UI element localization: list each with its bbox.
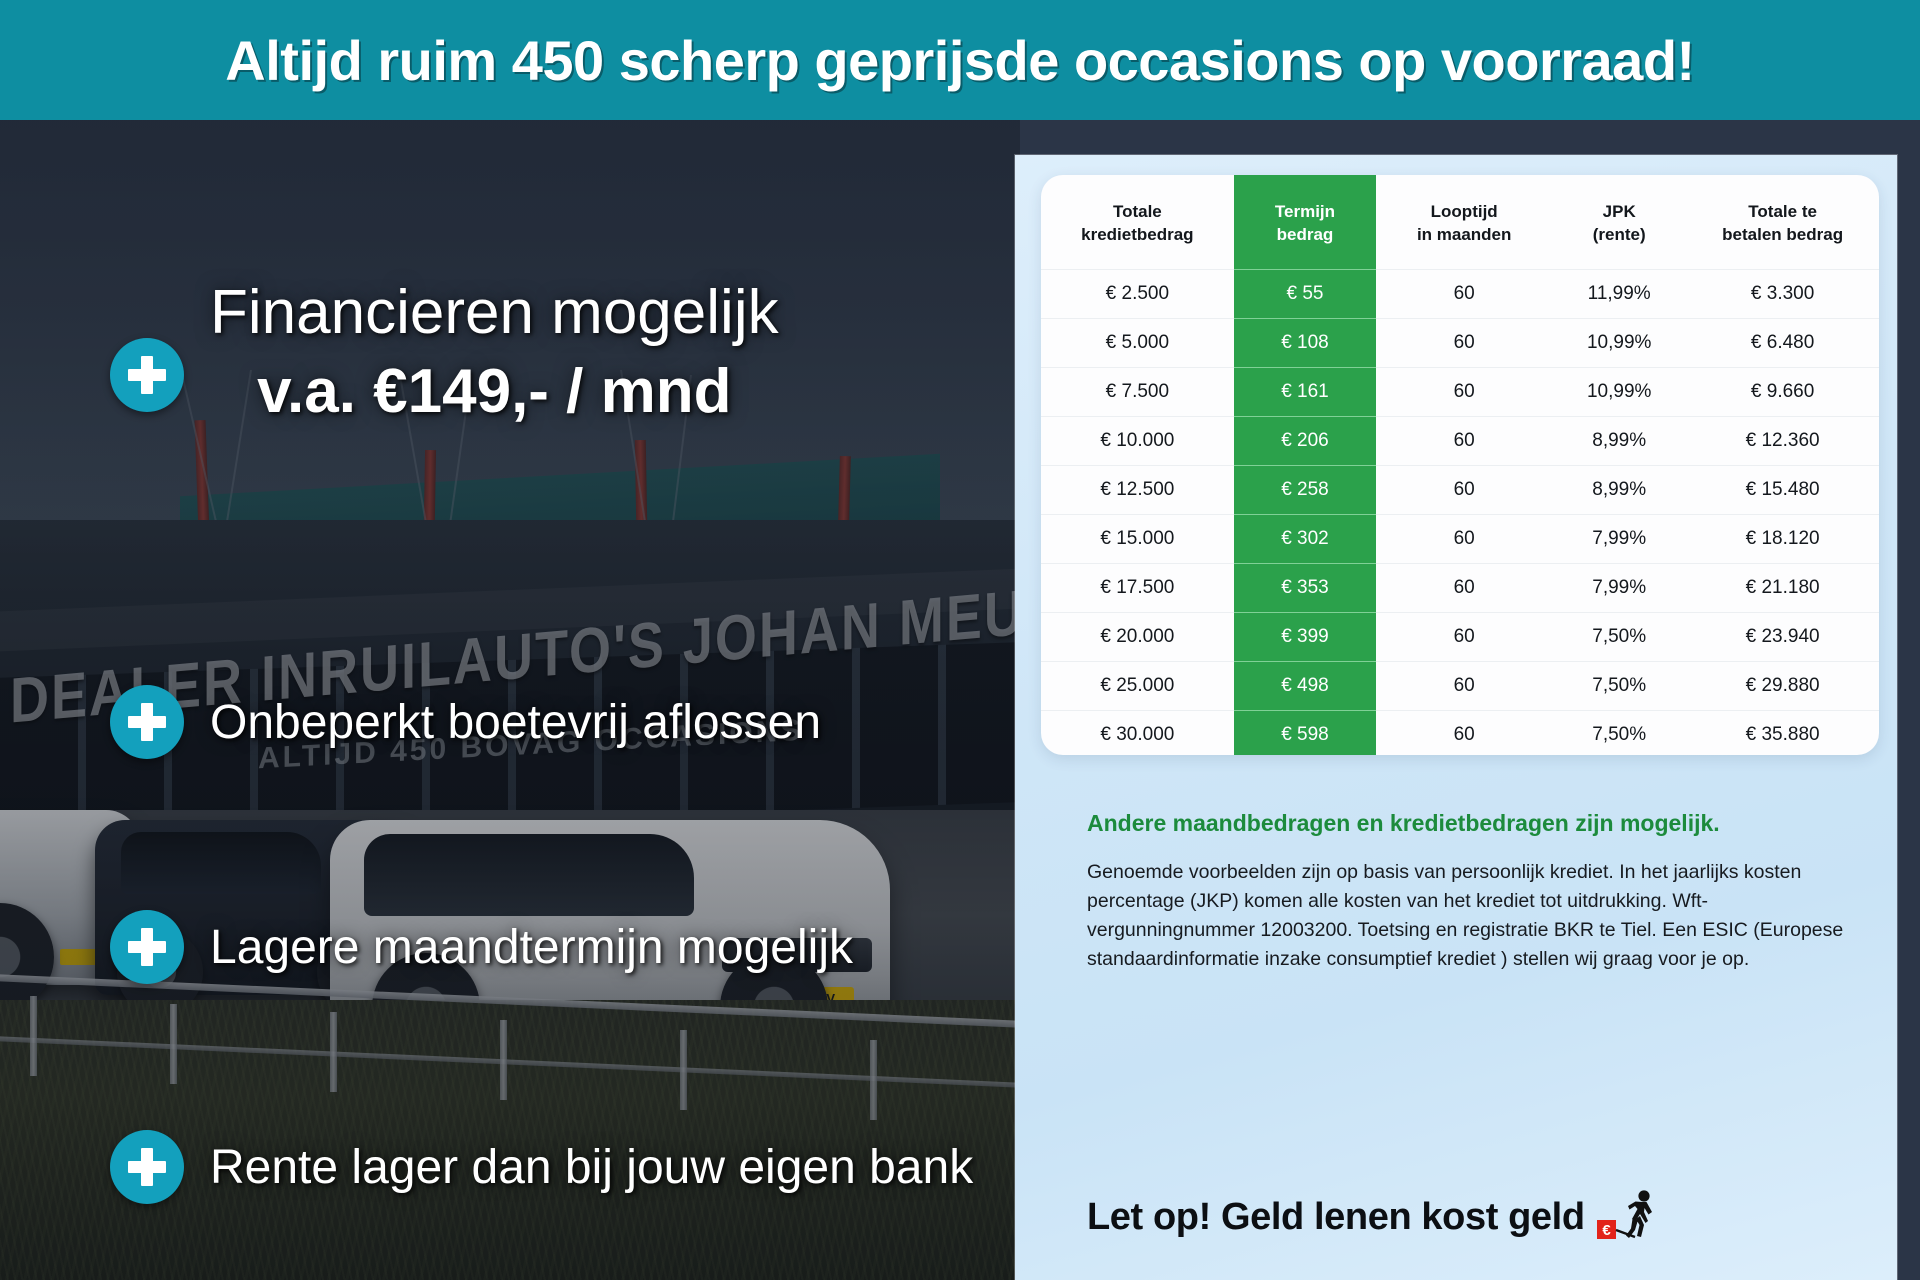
table-cell: € 21.180 (1686, 563, 1879, 612)
table-cell: € 30.000 (1041, 710, 1234, 755)
benefit-item-aflossen: Onbeperkt boetevrij aflossen (110, 685, 821, 759)
note-heading: Andere maandbedragen en kredietbedragen … (1087, 810, 1847, 838)
th-line-2: (rente) (1593, 225, 1646, 244)
financing-table-card: Totale kredietbedrag Termijn bedrag Loop… (1041, 175, 1879, 755)
panel-note: Andere maandbedragen en kredietbedragen … (1087, 810, 1847, 975)
th-line-1: JPK (1603, 202, 1636, 221)
table-row: € 12.500€ 258608,99%€ 15.480 (1041, 465, 1879, 514)
cell-termijn-bedrag: € 399 (1234, 612, 1376, 661)
th-totale-te-betalen: Totale te betalen bedrag (1686, 175, 1879, 269)
table-cell: 10,99% (1552, 367, 1686, 416)
table-cell: 60 (1376, 416, 1552, 465)
table-header-row: Totale kredietbedrag Termijn bedrag Loop… (1041, 175, 1879, 269)
warning-text: Let op! Geld lenen kost geld (1087, 1196, 1585, 1239)
table-cell: 7,50% (1552, 612, 1686, 661)
th-line-2: in maanden (1417, 225, 1511, 244)
top-banner: Altijd ruim 450 scherp geprijsde occasio… (0, 0, 1920, 120)
cell-termijn-bedrag: € 302 (1234, 514, 1376, 563)
th-looptijd: Looptijd in maanden (1376, 175, 1552, 269)
table-cell: € 12.500 (1041, 465, 1234, 514)
banner-headline: Altijd ruim 450 scherp geprijsde occasio… (225, 28, 1694, 93)
table-cell: € 20.000 (1041, 612, 1234, 661)
table-cell: 7,50% (1552, 710, 1686, 755)
cell-termijn-bedrag: € 108 (1234, 318, 1376, 367)
table-cell: 8,99% (1552, 465, 1686, 514)
note-body: Genoemde voorbeelden zijn op basis van p… (1087, 858, 1847, 975)
table-cell: 60 (1376, 710, 1552, 755)
cell-termijn-bedrag: € 598 (1234, 710, 1376, 755)
svg-text:€: € (1602, 1222, 1611, 1239)
benefit-label: Rente lager dan bij jouw eigen bank (210, 1140, 973, 1195)
th-line-1: Totale (1113, 202, 1162, 221)
table-cell: 60 (1376, 465, 1552, 514)
financing-table: Totale kredietbedrag Termijn bedrag Loop… (1041, 175, 1879, 755)
table-row: € 20.000€ 399607,50%€ 23.940 (1041, 612, 1879, 661)
table-row: € 25.000€ 498607,50%€ 29.880 (1041, 661, 1879, 710)
table-cell: € 3.300 (1686, 269, 1879, 318)
table-cell: € 5.000 (1041, 318, 1234, 367)
cell-termijn-bedrag: € 353 (1234, 563, 1376, 612)
financing-info-panel: Totale kredietbedrag Termijn bedrag Loop… (1015, 155, 1897, 1280)
financing-line-1: Financieren mogelijk (210, 280, 779, 345)
table-cell: 60 (1376, 661, 1552, 710)
table-cell: 7,99% (1552, 563, 1686, 612)
table-body: € 2.500€ 556011,99%€ 3.300€ 5.000€ 10860… (1041, 269, 1879, 755)
th-line-2: kredietbedrag (1081, 225, 1193, 244)
table-cell: € 18.120 (1686, 514, 1879, 563)
cell-termijn-bedrag: € 206 (1234, 416, 1376, 465)
plus-icon (110, 910, 184, 984)
table-cell: € 9.660 (1686, 367, 1879, 416)
table-row: € 5.000€ 1086010,99%€ 6.480 (1041, 318, 1879, 367)
table-cell: € 23.940 (1686, 612, 1879, 661)
table-cell: 60 (1376, 563, 1552, 612)
table-cell: € 6.480 (1686, 318, 1879, 367)
th-totale-kredietbedrag: Totale kredietbedrag (1041, 175, 1234, 269)
afm-walking-man-icon: € (1597, 1190, 1659, 1244)
table-cell: € 35.880 (1686, 710, 1879, 755)
table-cell: € 29.880 (1686, 661, 1879, 710)
table-cell: 60 (1376, 367, 1552, 416)
th-line-1: Termijn (1275, 202, 1335, 221)
table-cell: € 15.000 (1041, 514, 1234, 563)
financing-text-block: Financieren mogelijk v.a. €149,- / mnd (210, 280, 779, 424)
cell-termijn-bedrag: € 498 (1234, 661, 1376, 710)
table-cell: 8,99% (1552, 416, 1686, 465)
table-row: € 17.500€ 353607,99%€ 21.180 (1041, 563, 1879, 612)
benefit-item-rente: Rente lager dan bij jouw eigen bank (110, 1130, 973, 1204)
table-row: € 2.500€ 556011,99%€ 3.300 (1041, 269, 1879, 318)
table-row: € 7.500€ 1616010,99%€ 9.660 (1041, 367, 1879, 416)
table-cell: € 10.000 (1041, 416, 1234, 465)
table-cell: 60 (1376, 318, 1552, 367)
benefit-item-financing: Financieren mogelijk v.a. €149,- / mnd (110, 280, 779, 424)
benefit-label: Onbeperkt boetevrij aflossen (210, 695, 821, 750)
content-stage: DEALER INRUILAUTO'S JOHAN MEURE ALTIJD 4… (0, 120, 1920, 1280)
table-cell: 11,99% (1552, 269, 1686, 318)
table-row: € 30.000€ 598607,50%€ 35.880 (1041, 710, 1879, 755)
benefit-label: Lagere maandtermijn mogelijk (210, 920, 853, 975)
benefit-item-maandtermijn: Lagere maandtermijn mogelijk (110, 910, 853, 984)
cell-termijn-bedrag: € 258 (1234, 465, 1376, 514)
th-termijn-bedrag: Termijn bedrag (1234, 175, 1376, 269)
th-jpk-rente: JPK (rente) (1552, 175, 1686, 269)
th-line-2: bedrag (1277, 225, 1334, 244)
table-cell: 60 (1376, 514, 1552, 563)
table-cell: € 12.360 (1686, 416, 1879, 465)
table-cell: 60 (1376, 269, 1552, 318)
cell-termijn-bedrag: € 161 (1234, 367, 1376, 416)
plus-icon (110, 338, 184, 412)
table-cell: 60 (1376, 612, 1552, 661)
th-line-1: Looptijd (1431, 202, 1498, 221)
table-row: € 15.000€ 302607,99%€ 18.120 (1041, 514, 1879, 563)
benefits-list: Financieren mogelijk v.a. €149,- / mnd O… (0, 120, 1020, 1280)
table-cell: € 15.480 (1686, 465, 1879, 514)
th-line-2: betalen bedrag (1722, 225, 1843, 244)
th-line-1: Totale te (1748, 202, 1817, 221)
financing-line-2: v.a. €149,- / mnd (210, 359, 779, 424)
plus-icon (110, 685, 184, 759)
warning-row: Let op! Geld lenen kost geld € (1087, 1190, 1659, 1244)
table-cell: 7,99% (1552, 514, 1686, 563)
plus-icon (110, 1130, 184, 1204)
table-cell: € 25.000 (1041, 661, 1234, 710)
table-cell: 7,50% (1552, 661, 1686, 710)
table-cell: € 2.500 (1041, 269, 1234, 318)
table-cell: 10,99% (1552, 318, 1686, 367)
cell-termijn-bedrag: € 55 (1234, 269, 1376, 318)
table-row: € 10.000€ 206608,99%€ 12.360 (1041, 416, 1879, 465)
table-cell: € 17.500 (1041, 563, 1234, 612)
table-cell: € 7.500 (1041, 367, 1234, 416)
